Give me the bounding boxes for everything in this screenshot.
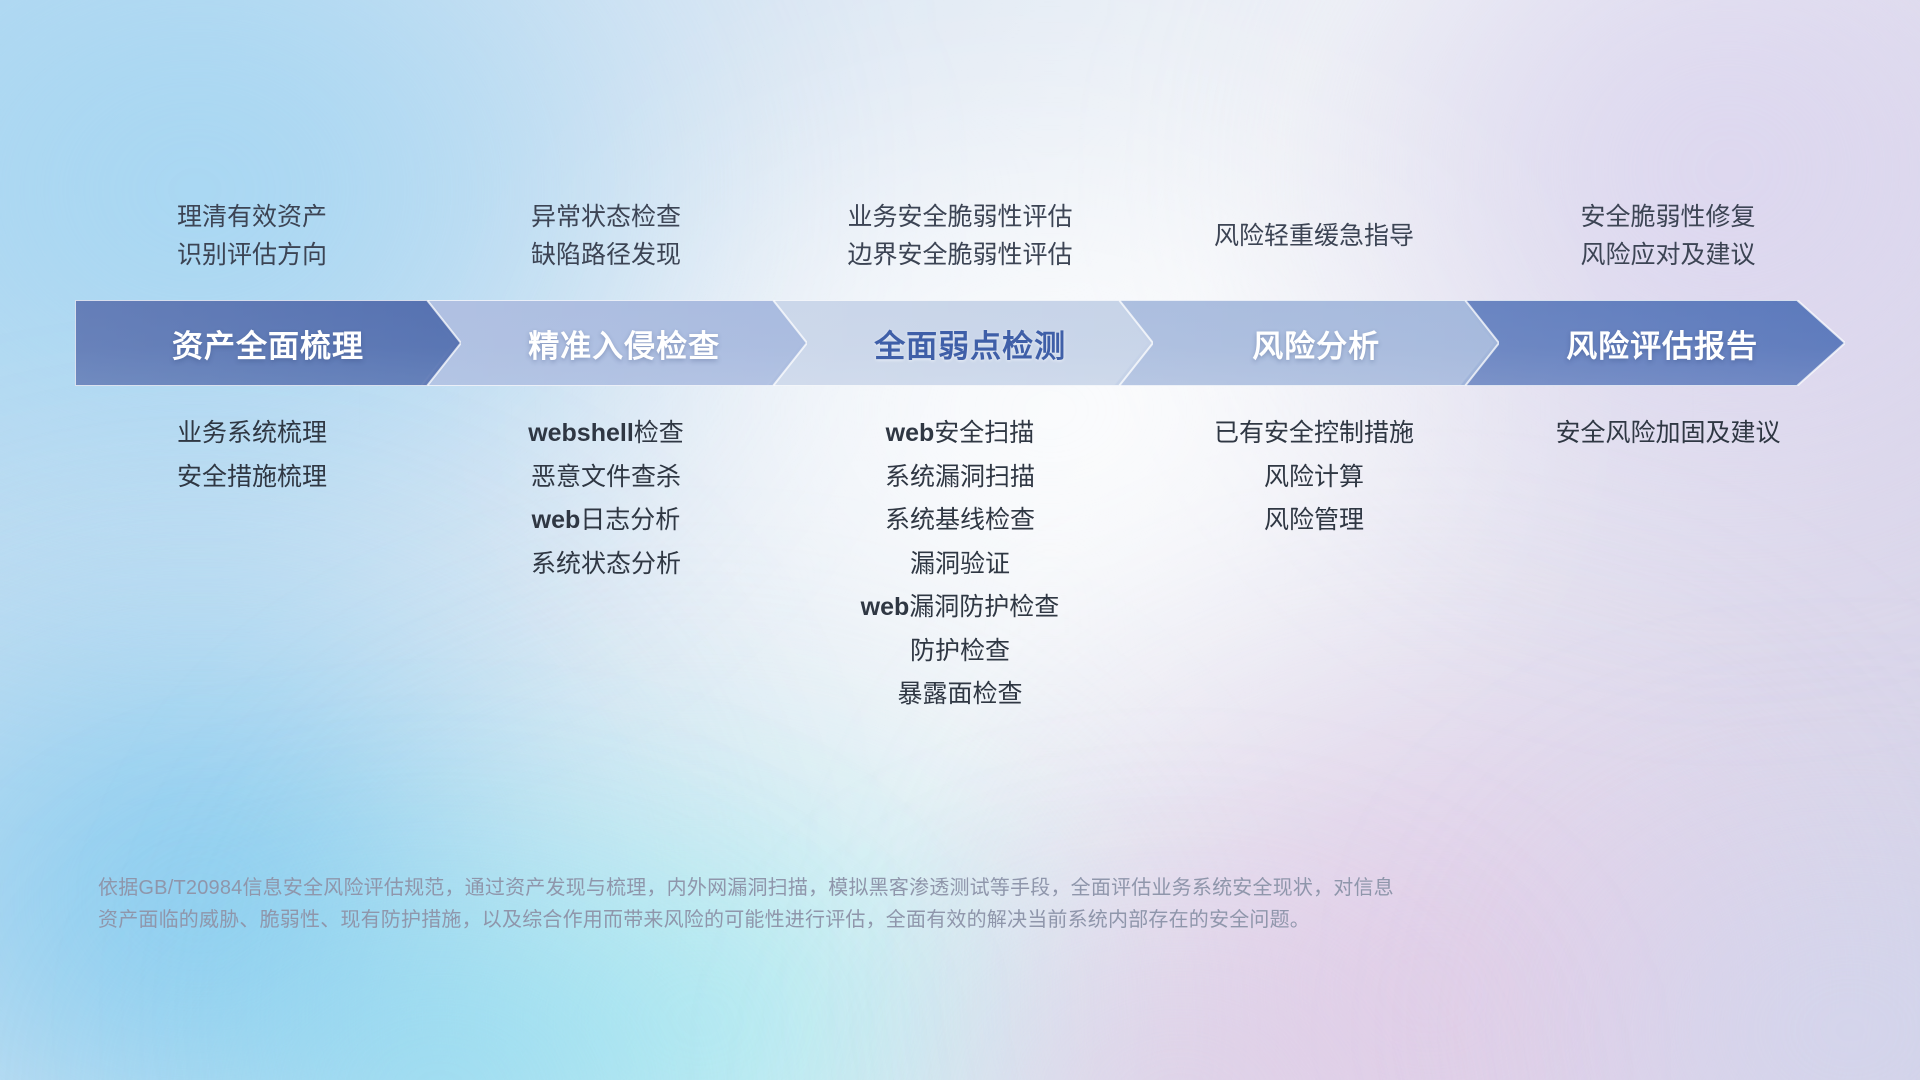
task-text: 检查 [634,419,684,447]
stage-output-item: 缺陷路径发现 [531,242,681,268]
chevron-asset-inventory[interactable]: 资产全面梳理 [75,300,461,386]
stage-task-item: 业务系统梳理 [177,420,327,448]
stage-task-item: 系统漏洞扫描 [885,464,1035,492]
stage-task-item: 风险管理 [1264,507,1364,535]
stage-output-item: 识别评估方向 [177,242,327,268]
stage-tasks-weakness-detection: web安全扫描系统漏洞扫描系统基线检查漏洞验证web漏洞防护检查防护检查暴露面检… [783,420,1137,709]
stage-task-item: 安全风险加固及建议 [1555,420,1780,448]
stage-task-item: 安全措施梳理 [177,464,327,492]
stage-output-item: 业务安全脆弱性评估 [847,204,1072,230]
stage-task-item: 已有安全控制措施 [1214,420,1414,448]
stage-task-item: 漏洞验证 [910,551,1010,579]
stage-output-item: 风险应对及建议 [1580,242,1755,268]
footer-description: 依据GB/T20984信息安全风险评估规范，通过资产发现与梳理，内外网漏洞扫描，… [98,872,1658,937]
chevron-label: 风险分析 [1252,321,1380,366]
stage-task-item: webshell检查 [528,420,684,448]
chevron-label: 精准入侵检查 [528,321,720,366]
stage-outputs-weakness-detection: 业务安全脆弱性评估边界安全脆弱性评估 [783,188,1137,284]
chevron-assessment-report[interactable]: 风险评估报告 [1459,300,1845,386]
chevron-label: 风险评估报告 [1566,321,1758,366]
stage-task-item: 系统基线检查 [885,507,1035,535]
stage-task-item: 系统状态分析 [531,551,681,579]
stage-outputs-assessment-report: 安全脆弱性修复风险应对及建议 [1491,188,1845,284]
stage-output-item: 风险轻重缓急指导 [1214,223,1414,249]
stage-task-item: 风险计算 [1264,464,1364,492]
task-prefix: web [886,419,935,447]
chevron-weakness-detection[interactable]: 全面弱点检测 [767,300,1153,386]
stage-task-item: web安全扫描 [886,420,1035,448]
stage-tasks-asset-inventory: 业务系统梳理安全措施梳理 [75,420,429,491]
chevron-label: 全面弱点检测 [874,321,1066,366]
footer-line-2: 资产面临的威胁、脆弱性、现有防护措施，以及综合作用而带来风险的可能性进行评估，全… [98,904,1658,936]
stage-outputs-row: 理清有效资产识别评估方向异常状态检查缺陷路径发现业务安全脆弱性评估边界安全脆弱性… [75,188,1845,284]
stage-tasks-risk-analysis: 已有安全控制措施风险计算风险管理 [1137,420,1491,535]
stage-tasks-assessment-report: 安全风险加固及建议 [1491,420,1845,448]
process-chevron-band: 资产全面梳理精准入侵检查全面弱点检测风险分析风险评估报告 [75,300,1845,386]
stage-task-item: 防护检查 [910,638,1010,666]
stage-task-item: web漏洞防护检查 [861,594,1060,622]
stage-outputs-intrusion-check: 异常状态检查缺陷路径发现 [429,188,783,284]
chevron-label: 资产全面梳理 [172,321,364,366]
stage-tasks-intrusion-check: webshell检查恶意文件查杀web日志分析系统状态分析 [429,420,783,578]
task-prefix: web [532,506,581,534]
stage-output-item: 理清有效资产 [177,204,327,230]
stage-output-item: 安全脆弱性修复 [1580,204,1755,230]
task-prefix: webshell [528,419,634,447]
stage-output-item: 异常状态检查 [531,204,681,230]
stage-task-item: 恶意文件查杀 [531,464,681,492]
task-text: 安全扫描 [934,419,1034,447]
stage-task-item: 暴露面检查 [897,681,1022,709]
chevron-intrusion-check[interactable]: 精准入侵检查 [421,300,807,386]
footer-line-1: 依据GB/T20984信息安全风险评估规范，通过资产发现与梳理，内外网漏洞扫描，… [98,872,1658,904]
stage-output-item: 边界安全脆弱性评估 [847,242,1072,268]
process-diagram: 理清有效资产识别评估方向异常状态检查缺陷路径发现业务安全脆弱性评估边界安全脆弱性… [0,0,1920,1080]
stage-task-item: web日志分析 [532,507,681,535]
stage-outputs-asset-inventory: 理清有效资产识别评估方向 [75,188,429,284]
stage-tasks-row: 业务系统梳理安全措施梳理webshell检查恶意文件查杀web日志分析系统状态分… [75,420,1845,709]
task-text: 日志分析 [580,506,680,534]
chevron-risk-analysis[interactable]: 风险分析 [1113,300,1499,386]
task-prefix: web [861,593,910,621]
stage-outputs-risk-analysis: 风险轻重缓急指导 [1137,188,1491,284]
task-text: 漏洞防护检查 [909,593,1059,621]
